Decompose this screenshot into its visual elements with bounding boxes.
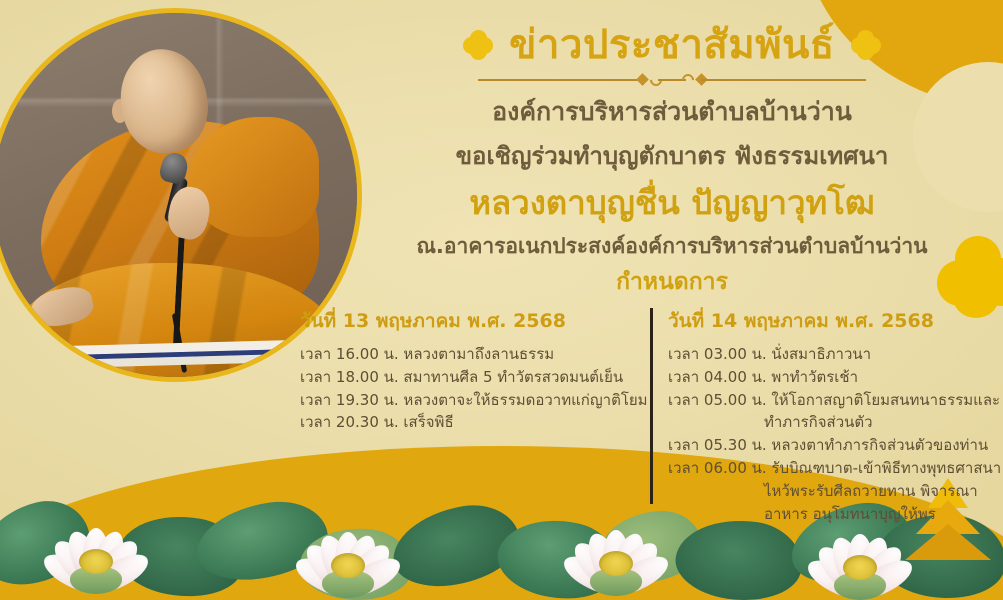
agenda-heading: กำหนดการ [352, 268, 992, 298]
schedule-item: เวลา 04.00 น. พาทำวัตรเช้า [668, 366, 1000, 389]
schedule-section: วันที่ 13 พฤษภาคม พ.ศ. 2568 เวลา 16.00 น… [300, 306, 1000, 525]
monk-shoulder [189, 117, 319, 237]
venue-line: ณ.อาคารอเนกประสงค์องค์การบริหารส่วนตำบลบ… [352, 233, 992, 260]
title-row: ข่าวประชาสัมพันธ์ [352, 22, 992, 68]
monk-name: หลวงตาบุญชื่น ปัญญาวุทโฒ [352, 182, 992, 223]
quatrefoil-icon-right [851, 30, 881, 60]
schedule-column-day2: วันที่ 14 พฤษภาคม พ.ศ. 2568 เวลา 03.00 น… [650, 306, 1000, 525]
announcement-poster: ข่าวประชาสัมพันธ์ องค์การบริหารส่วนตำบลบ… [0, 0, 1003, 600]
ornamental-divider [478, 72, 866, 88]
continuation-text: ไหว้พระรับศีลถวายทาน พิจารณา [668, 480, 1000, 503]
schedule-item: เวลา 20.30 น. เสร็จพิธี [300, 411, 634, 434]
schedule-item: เวลา 16.00 น. หลวงตามาถึงลานธรรม [300, 343, 634, 366]
schedule-item: เวลา 05.00 น. ให้โอกาสญาติโยมสนทนาธรรมแล… [668, 389, 1000, 412]
schedule-item: เวลา 19.30 น. หลวงตาจะให้ธรรมดอวาทแก่ญาต… [300, 389, 634, 412]
poster-header: ข่าวประชาสัมพันธ์ องค์การบริหารส่วนตำบลบ… [352, 22, 992, 298]
schedule-item-continuation: ไหว้พระรับศีลถวายทาน พิจารณา [668, 480, 1000, 503]
invitation-line: ขอเชิญร่วมทำบุญตักบาตร ฟังธรรมเทศนา [352, 141, 992, 172]
quatrefoil-icon-left [463, 30, 493, 60]
schedule-item: เวลา 05.30 น. หลวงตาทำภารกิจส่วนตัวของท่… [668, 434, 1000, 457]
continuation-text: อาหาร อนุโมทนาบุญให้พร [668, 503, 1000, 526]
schedule-item-continuation: อาหาร อนุโมทนาบุญให้พร [668, 503, 1000, 526]
continuation-text: ทำภารกิจส่วนตัว [668, 411, 1000, 434]
organization-name: องค์การบริหารส่วนตำบลบ้านว่าน [352, 96, 992, 129]
schedule-item: เวลา 03.00 น. นั่งสมาธิภาวนา [668, 343, 1000, 366]
schedule-item-continuation: ทำภารกิจส่วนตัว [668, 411, 1000, 434]
page-title: ข่าวประชาสัมพันธ์ [509, 22, 835, 68]
column-divider [650, 308, 653, 504]
schedule-column-day1: วันที่ 13 พฤษภาคม พ.ศ. 2568 เวลา 16.00 น… [300, 306, 650, 525]
day1-heading: วันที่ 13 พฤษภาคม พ.ศ. 2568 [300, 306, 634, 336]
schedule-item: เวลา 06.00 น. รับบิณฑบาต-เข้าพิธีทางพุทธ… [668, 457, 1000, 480]
lotus-flower [36, 498, 156, 594]
schedule-item: เวลา 18.00 น. สมาทานศีล 5 ทำวัตรสวดมนต์เ… [300, 366, 634, 389]
day2-heading: วันที่ 14 พฤษภาคม พ.ศ. 2568 [668, 306, 1000, 336]
